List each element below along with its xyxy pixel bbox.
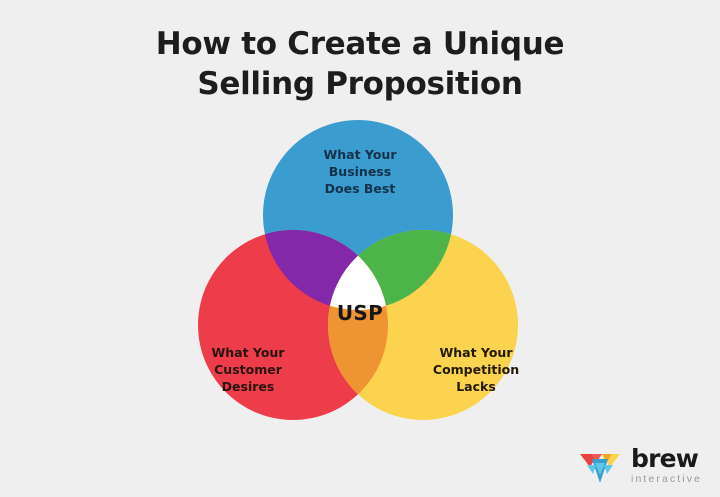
venn-svg (160, 112, 560, 482)
brand-logo: brew interactive (578, 445, 702, 485)
brew-logo-wordmark: brew (631, 446, 702, 471)
venn-diagram: What Your Business Does Best What Your C… (160, 112, 560, 482)
brew-logo-text: brew interactive (631, 446, 702, 485)
brew-logo-mark-icon (578, 445, 622, 485)
title-line-1: How to Create a Unique (0, 24, 720, 64)
title-line-2: Selling Proposition (0, 64, 720, 104)
page-title: How to Create a Unique Selling Propositi… (0, 24, 720, 104)
brew-logo-tagline: interactive (631, 474, 702, 485)
infographic-canvas: How to Create a Unique Selling Propositi… (0, 0, 720, 497)
